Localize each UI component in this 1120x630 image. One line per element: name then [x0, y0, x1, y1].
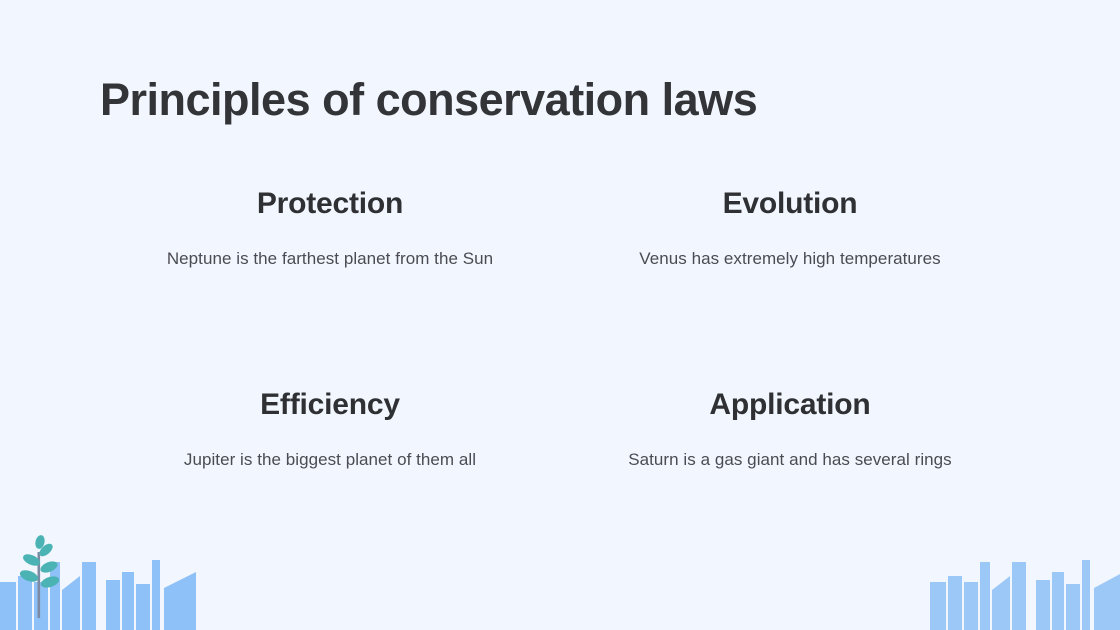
item-heading: Evolution	[625, 186, 955, 222]
content-item-efficiency: Efficiency Jupiter is the biggest planet…	[165, 387, 495, 475]
item-body: Venus has extremely high temperatures	[625, 244, 955, 274]
item-body: Jupiter is the biggest planet of them al…	[165, 445, 495, 475]
item-body: Saturn is a gas giant and has several ri…	[625, 445, 955, 475]
item-body: Neptune is the farthest planet from the …	[165, 244, 495, 274]
city-skyline-icon	[920, 520, 1120, 630]
item-heading: Protection	[165, 186, 495, 222]
page-title: Principles of conservation laws	[100, 74, 1020, 126]
content-item-protection: Protection Neptune is the farthest plane…	[165, 186, 495, 274]
city-skyline-with-sprout-icon	[0, 520, 200, 630]
sprout-icon	[18, 534, 60, 618]
item-heading: Application	[625, 387, 955, 423]
content-item-application: Application Saturn is a gas giant and ha…	[625, 387, 955, 475]
slide-canvas: Principles of conservation laws Protecti…	[0, 0, 1120, 630]
content-item-evolution: Evolution Venus has extremely high tempe…	[625, 186, 955, 274]
item-heading: Efficiency	[165, 387, 495, 423]
